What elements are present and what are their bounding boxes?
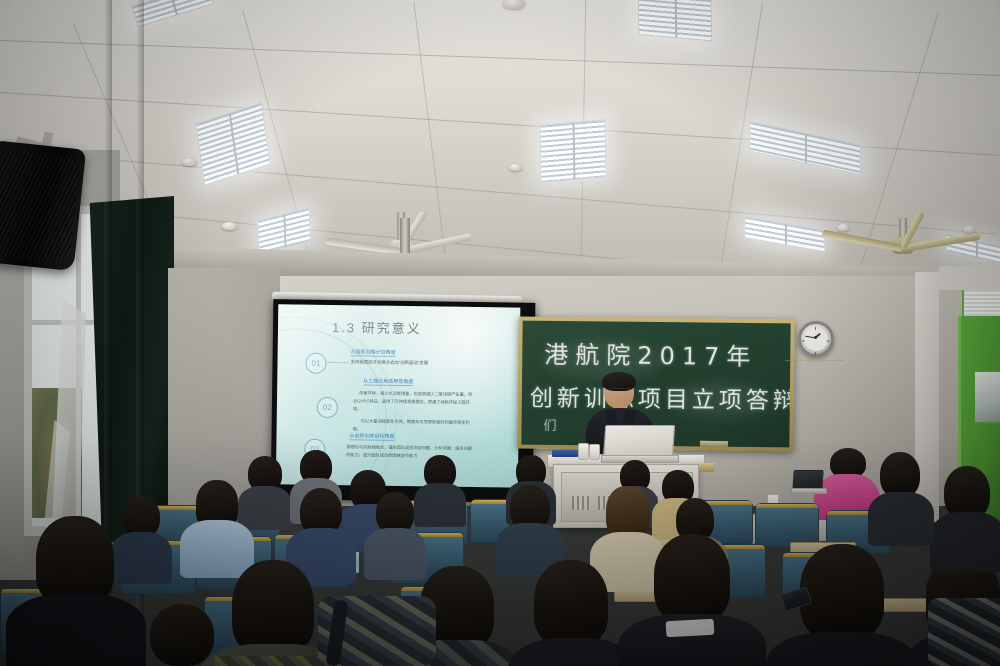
backpack — [928, 598, 1000, 666]
ceiling-fan — [890, 218, 916, 262]
head — [36, 516, 114, 606]
wall-clock — [798, 321, 834, 357]
clock-face — [804, 327, 828, 351]
smoke-detector-icon — [222, 222, 237, 230]
smoke-detector-icon — [963, 226, 975, 233]
presenter-laptop[interactable] — [604, 425, 676, 461]
ceiling-light-fixture — [638, 0, 712, 41]
paper-cup — [589, 444, 600, 460]
clock-tick — [815, 352, 816, 355]
auditorium-seat[interactable] — [755, 503, 819, 547]
head — [654, 534, 730, 622]
chalkboard-line-1: 港航院2017年 — [544, 335, 757, 372]
clock-tick — [802, 341, 805, 342]
wall-stripe — [822, 360, 844, 361]
collar — [666, 619, 715, 637]
torso — [110, 532, 172, 584]
judge-laptop[interactable] — [793, 470, 823, 492]
torso — [766, 632, 918, 666]
smoke-detector-icon — [837, 224, 849, 231]
wall-mounted-loudspeaker — [0, 141, 86, 272]
clock-tick — [827, 341, 830, 342]
smoke-detector-icon — [509, 164, 522, 171]
clock-center-pin — [814, 336, 817, 339]
head — [800, 544, 884, 640]
clock-tick — [815, 327, 816, 330]
smoke-detector-icon — [503, 0, 525, 9]
paper-cup — [578, 443, 589, 460]
head — [534, 560, 608, 646]
chalkboard-corner-mark: 们 — [543, 415, 556, 434]
torso — [868, 492, 934, 546]
torso — [6, 594, 146, 666]
wall-stripe — [785, 360, 813, 361]
right-wall-upper — [939, 266, 1000, 290]
chalkboard-line-2: 创新训练项目立项答辩 — [530, 379, 791, 416]
jacket-pattern — [214, 656, 330, 666]
torso — [180, 520, 254, 578]
torso — [414, 483, 466, 527]
torso — [930, 512, 1000, 572]
torso — [238, 486, 292, 530]
lectern-side-plate — [700, 463, 714, 472]
smoke-detector-icon — [182, 158, 197, 166]
chalk-tray — [700, 441, 728, 447]
presenter-glasses — [607, 388, 631, 394]
blue-folder-on-lectern — [552, 450, 578, 457]
lectern-vent — [572, 496, 590, 510]
blackout-curtain — [88, 196, 174, 548]
head — [232, 560, 314, 656]
head — [150, 604, 214, 666]
torso — [364, 528, 426, 580]
lecture-hall-photo: 1.3 研究意义 01 从国家战略计划角度 支持我国经济发展方式向“创新驱动”发… — [0, 0, 1000, 666]
ceiling-light-fixture — [540, 119, 607, 183]
door-glass-panel — [973, 370, 1000, 424]
